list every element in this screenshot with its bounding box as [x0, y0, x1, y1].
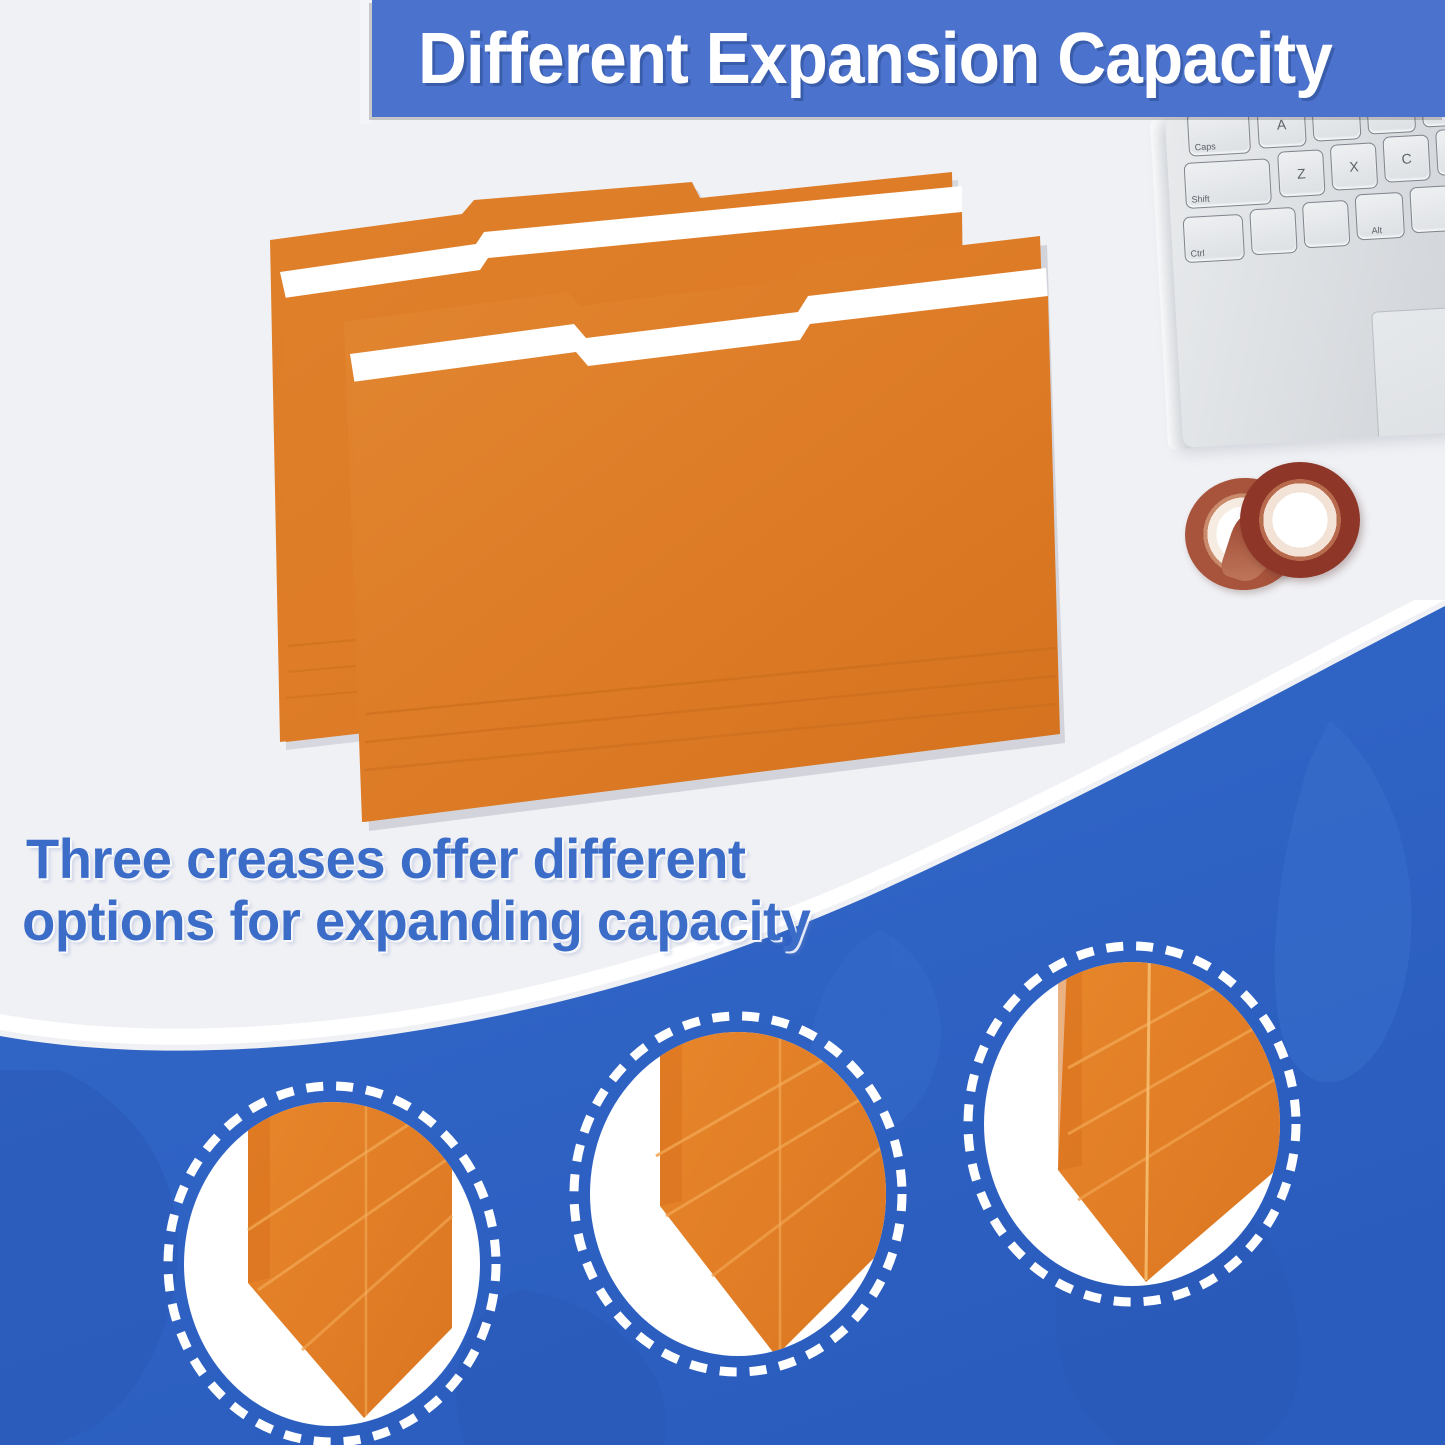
tape-roll-right [1240, 462, 1360, 578]
header-banner: Different Expansion Capacity [372, 0, 1445, 117]
product-infographic: Caps A Shift Z X C Ctrl Alt [0, 0, 1445, 1445]
caption-text: Three creases offer different options fo… [26, 828, 880, 952]
page-title: Different Expansion Capacity [418, 23, 1332, 95]
key-shift: Shift [1184, 158, 1272, 209]
key-win [1302, 200, 1350, 248]
key-c: C [1382, 134, 1430, 182]
key-alt: Alt [1355, 192, 1405, 241]
crease-detail-1 [152, 1078, 512, 1445]
crease-detail-3 [950, 938, 1310, 1308]
key-space [1409, 183, 1445, 234]
laptop-trackpad [1371, 303, 1445, 448]
key-ctrl: Ctrl [1183, 214, 1245, 263]
key-z: Z [1277, 149, 1325, 197]
banner-left-gap [360, 0, 372, 124]
caption-line-1: Three creases offer different [26, 827, 746, 890]
key-fn [1249, 207, 1297, 255]
crease-detail-2 [556, 1008, 916, 1378]
caption-line-2: options for expanding capacity [22, 890, 879, 952]
laptop: Caps A Shift Z X C Ctrl Alt [1165, 101, 1445, 447]
key-x: X [1330, 142, 1378, 190]
key-v [1435, 127, 1445, 175]
